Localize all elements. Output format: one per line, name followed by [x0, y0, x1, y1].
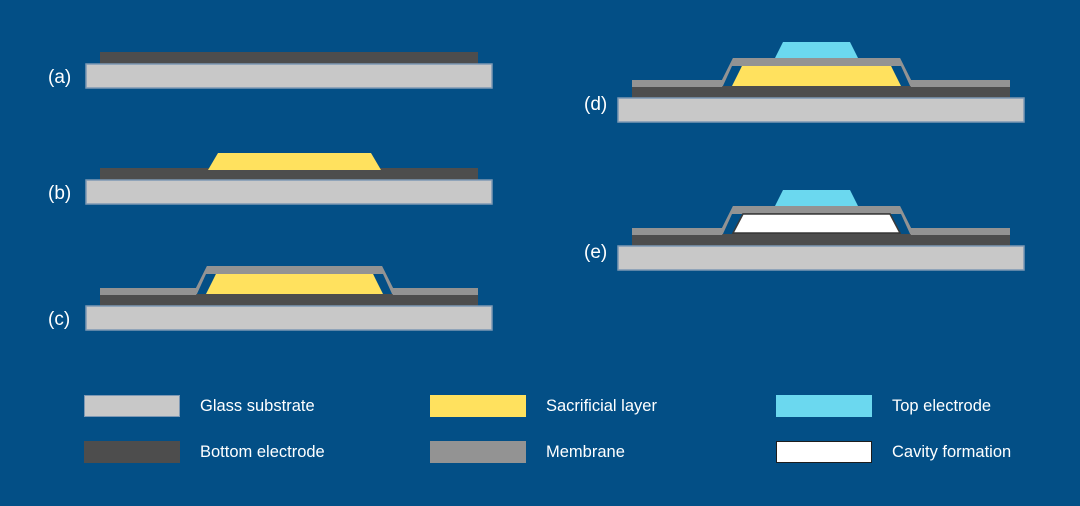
legend-label-sacrificial-layer: Sacrificial layer [546, 398, 657, 415]
legend-column-2: Sacrificial layer Membrane [430, 380, 770, 470]
panel-a-label: (a) [48, 67, 71, 88]
panel-d: (d) [584, 42, 1024, 122]
legend-item-cavity-formation: Cavity formation [776, 440, 1011, 464]
panel-c-bottom-electrode [100, 294, 478, 306]
legend-item-membrane: Membrane [430, 440, 625, 464]
panel-d-bottom-electrode [632, 86, 1010, 98]
panel-c-sacrificial-layer-front [206, 274, 383, 294]
panel-a-bottom-electrode [100, 52, 478, 64]
panel-b-sacrificial-layer-front [208, 153, 381, 170]
panel-c-label: (c) [48, 309, 70, 330]
panel-d-label: (d) [584, 94, 607, 115]
panel-c: (c) [48, 266, 492, 330]
bottom-electrode-swatch [84, 441, 180, 463]
panel-c-glass-substrate [86, 306, 492, 330]
panel-d-sacrificial-layer-front [732, 66, 901, 86]
membrane-swatch [430, 441, 526, 463]
panel-d-top-electrode [775, 42, 858, 58]
process-flow-figure: (a) (b) (c) (d) [0, 0, 1080, 506]
legend-label-cavity-formation: Cavity formation [892, 444, 1011, 461]
legend-item-top-electrode: Top electrode [776, 394, 991, 418]
sacrificial-layer-swatch [430, 395, 526, 417]
panel-e-bottom-electrode [632, 234, 1010, 246]
legend-column-3: Top electrode Cavity formation [776, 380, 1080, 470]
legend-item-sacrificial-layer: Sacrificial layer [430, 394, 657, 418]
top-electrode-swatch [776, 395, 872, 417]
panel-b-glass-substrate [86, 180, 492, 204]
legend-label-glass-substrate: Glass substrate [200, 398, 315, 415]
legend-column-1: Glass substrate Bottom electrode [84, 380, 424, 470]
legend-label-membrane: Membrane [546, 444, 625, 461]
cavity-formation-swatch [776, 441, 872, 463]
legend: Glass substrate Bottom electrode Sacrifi… [0, 380, 1080, 480]
panel-e-label: (e) [584, 242, 607, 263]
panel-e-top-electrode [775, 190, 858, 206]
panel-a-glass-substrate [86, 64, 492, 88]
glass-substrate-swatch [84, 395, 180, 417]
legend-label-bottom-electrode: Bottom electrode [200, 444, 325, 461]
panel-b-label: (b) [48, 183, 71, 204]
panel-a: (a) [48, 52, 492, 88]
panel-e: (e) [584, 190, 1024, 270]
legend-label-top-electrode: Top electrode [892, 398, 991, 415]
panel-d-glass-substrate [618, 98, 1024, 122]
legend-item-bottom-electrode: Bottom electrode [84, 440, 325, 464]
panel-e-glass-substrate [618, 246, 1024, 270]
legend-item-glass-substrate: Glass substrate [84, 394, 315, 418]
panel-e-cavity-front [733, 214, 900, 233]
panel-b: (b) [48, 153, 492, 204]
